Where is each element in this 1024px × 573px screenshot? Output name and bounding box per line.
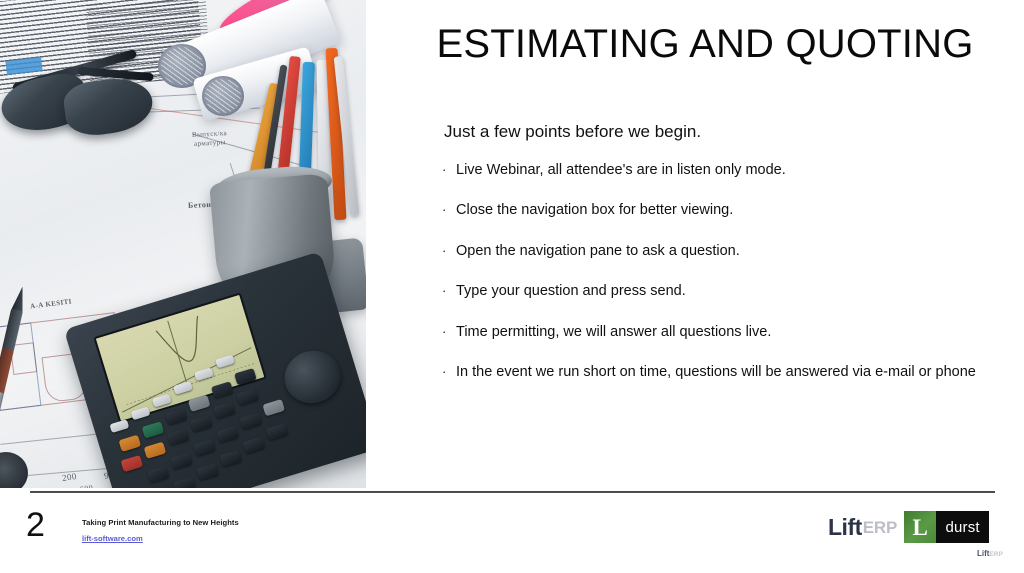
slide-root: A Выпуск/ка арматуры Бетон B10 A-A KESIT… bbox=[0, 0, 1024, 573]
bullet-icon: · bbox=[442, 325, 456, 340]
calculator-key bbox=[119, 435, 142, 452]
list-item: · Open the navigation pane to ask a ques… bbox=[442, 244, 1017, 260]
dimension-label-200: 200 bbox=[61, 471, 77, 483]
watermark-lift-text: Lift bbox=[977, 549, 989, 558]
list-item-label: Type your question and press send. bbox=[456, 284, 1017, 300]
calculator-key bbox=[262, 399, 285, 416]
bullet-icon: · bbox=[442, 284, 456, 299]
calculator-key bbox=[236, 388, 259, 405]
footer-divider bbox=[30, 491, 995, 493]
calculator-key bbox=[173, 477, 196, 488]
slide-photo: A Выпуск/ка арматуры Бетон B10 A-A KESIT… bbox=[0, 0, 366, 488]
calculator-key bbox=[242, 436, 265, 453]
page-title: ESTIMATING AND QUOTING bbox=[400, 22, 1010, 67]
logo-erp-text: ERP bbox=[863, 519, 897, 536]
company-tagline: Taking Print Manufacturing to New Height… bbox=[82, 518, 239, 527]
bullet-icon: · bbox=[442, 244, 456, 259]
list-item: · Type your question and press send. bbox=[442, 284, 1017, 300]
footer-text-block: Taking Print Manufacturing to New Height… bbox=[82, 518, 239, 547]
bullet-icon: · bbox=[442, 203, 456, 218]
slide-content: ESTIMATING AND QUOTING Just a few points… bbox=[366, 0, 1024, 488]
logo-green-square: L bbox=[904, 511, 936, 543]
list-item-label: Open the navigation pane to ask a questi… bbox=[456, 244, 1017, 260]
calculator-key bbox=[142, 421, 165, 438]
calculator-key bbox=[216, 426, 239, 443]
calculator-key bbox=[196, 463, 219, 480]
list-item: · Time permitting, we will answer all qu… bbox=[442, 325, 1017, 341]
calculator-function-key bbox=[109, 419, 129, 433]
calculator-key bbox=[167, 428, 190, 445]
calculator-key bbox=[190, 415, 213, 432]
list-item-label: Time permitting, we will answer all ques… bbox=[456, 325, 1017, 341]
rolled-drawing-end-lower bbox=[202, 76, 244, 116]
logo-lift-text: Lift bbox=[828, 516, 862, 539]
intro-text: Just a few points before we begin. bbox=[444, 122, 701, 142]
bullet-list: · Live Webinar, all attendee's are in li… bbox=[442, 163, 1017, 406]
page-number: 2 bbox=[26, 508, 45, 542]
calculator-key bbox=[266, 423, 289, 440]
list-item-label: In the event we run short on time, quest… bbox=[456, 365, 1017, 381]
list-item-label: Live Webinar, all attendee's are in list… bbox=[456, 163, 1017, 179]
watermark-erp-text: ERP bbox=[989, 551, 1002, 558]
calculator-key bbox=[147, 466, 170, 483]
list-item: · In the event we run short on time, que… bbox=[442, 365, 1017, 381]
logo-durst-box: durst bbox=[936, 511, 989, 543]
bullet-icon: · bbox=[442, 365, 456, 380]
list-item: · Live Webinar, all attendee's are in li… bbox=[442, 163, 1017, 179]
calculator-key bbox=[193, 439, 216, 456]
bullet-icon: · bbox=[442, 163, 456, 178]
lift-erp-durst-logo: Lift ERP L durst bbox=[828, 511, 989, 543]
dimension-label-600: 600 bbox=[79, 483, 93, 488]
logo-durst-text: durst bbox=[945, 520, 979, 535]
calculator-key bbox=[170, 452, 193, 469]
calculator-key bbox=[121, 455, 144, 472]
blueprint-note-2: арматуры bbox=[194, 138, 226, 148]
calculator-key bbox=[213, 402, 236, 419]
logo-watermark: LiftERP bbox=[977, 544, 1003, 560]
calculator-key bbox=[219, 450, 242, 467]
website-link[interactable]: lift-software.com bbox=[82, 534, 143, 543]
list-item-label: Close the navigation box for better view… bbox=[456, 203, 1017, 219]
calculator-key bbox=[144, 442, 167, 459]
calculator-key bbox=[165, 408, 188, 425]
calculator-key bbox=[239, 412, 262, 429]
photo-scene: A Выпуск/ка арматуры Бетон B10 A-A KESIT… bbox=[0, 0, 366, 488]
logo-green-letter: L bbox=[912, 516, 927, 539]
list-item: · Close the navigation box for better vi… bbox=[442, 203, 1017, 219]
